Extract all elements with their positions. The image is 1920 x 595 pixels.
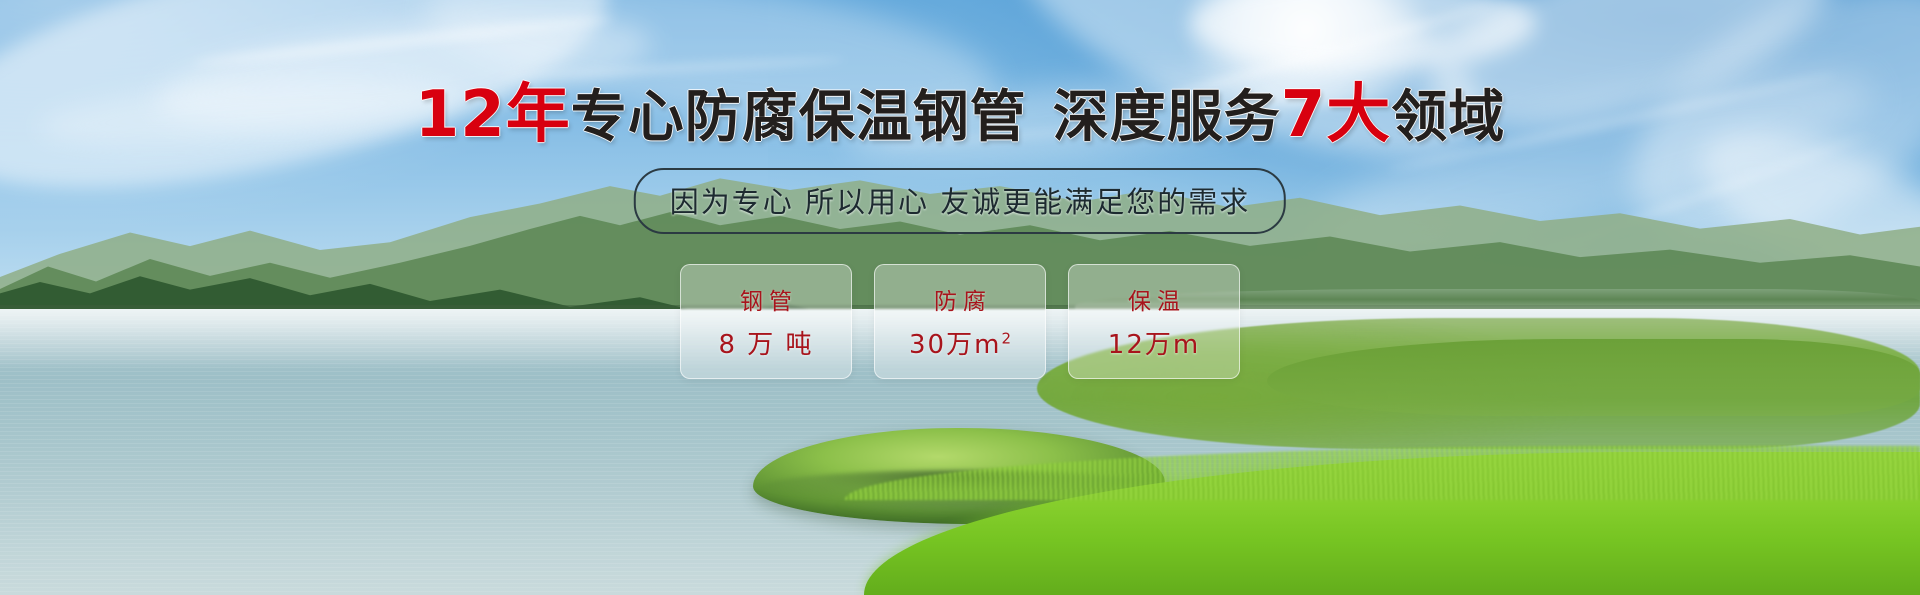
stat-card-value-main: 30万m — [909, 330, 1001, 360]
stat-card-value-main: 8 万 吨 — [718, 330, 813, 360]
stat-card-title: 钢管 — [734, 282, 798, 316]
hero-banner: 12年专心防腐保温钢管深度服务7大领域 因为专心 所以用心 友诚更能满足您的需求… — [0, 0, 1920, 595]
stat-card-value: 8 万 吨 — [718, 324, 813, 361]
subtitle-pill: 因为专心 所以用心 友诚更能满足您的需求 — [634, 168, 1286, 234]
headline-service-text: 深度服务 — [1053, 85, 1281, 150]
stat-card-title: 保温 — [1122, 282, 1186, 316]
headline-seven-highlight: 7大 — [1281, 78, 1392, 152]
wetland-marsh-lower — [1267, 339, 1920, 416]
stat-card-insulation[interactable]: 保温 12万m — [1068, 264, 1240, 379]
stat-card-title: 防腐 — [928, 282, 992, 316]
stat-card-value-superscript: 2 — [1001, 329, 1011, 347]
page-title: 12年专心防腐保温钢管深度服务7大领域 — [0, 83, 1920, 147]
headline-years-highlight: 12年 — [415, 78, 571, 152]
stat-card-value-main: 12万m — [1108, 330, 1200, 360]
stat-card-group: 钢管 8 万 吨 防腐 30万m2 保温 12万m — [680, 264, 1240, 379]
stat-card-anticorrosion[interactable]: 防腐 30万m2 — [874, 264, 1046, 379]
stat-card-steel-pipe[interactable]: 钢管 8 万 吨 — [680, 264, 852, 379]
stat-card-value: 30万m2 — [909, 324, 1011, 361]
headline-main-text: 专心防腐保温钢管 — [571, 85, 1027, 150]
headline-field-text: 领域 — [1391, 85, 1505, 150]
stat-card-value: 12万m — [1108, 324, 1200, 361]
